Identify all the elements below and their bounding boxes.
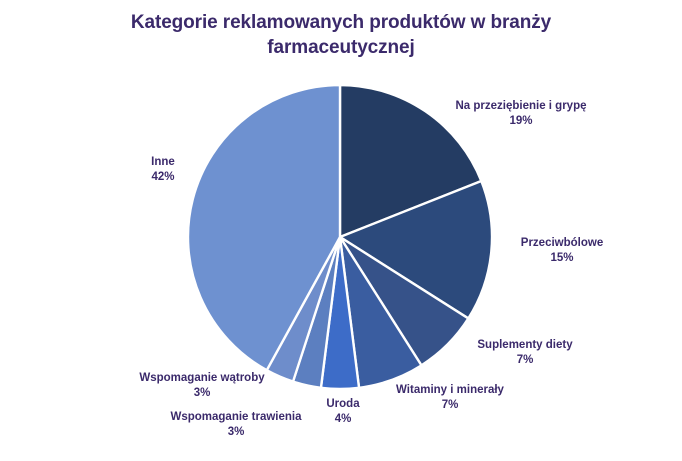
slice-label-beauty: Uroda4% xyxy=(318,397,368,427)
slice-label-name: Uroda xyxy=(318,397,368,412)
slice-label-name: Suplementy diety xyxy=(466,338,584,353)
slice-label-percent: 3% xyxy=(153,425,319,440)
slice-label-percent: 15% xyxy=(506,251,618,266)
slice-label-percent: 4% xyxy=(318,412,368,427)
slice-label-name: Witaminy i minerały xyxy=(384,383,516,398)
slice-label-painkiller: Przeciwbólowe15% xyxy=(506,236,618,266)
pie-slices-group xyxy=(188,85,492,389)
slice-label-percent: 19% xyxy=(440,114,602,129)
slice-label-supplements: Suplementy diety7% xyxy=(466,338,584,368)
slice-label-percent: 7% xyxy=(466,353,584,368)
slice-label-name: Przeciwbólowe xyxy=(506,236,618,251)
slice-label-name: Wspomaganie wątroby xyxy=(122,371,282,386)
slice-label-digestion: Wspomaganie trawienia3% xyxy=(153,410,319,440)
pie-chart-graphic xyxy=(0,0,682,461)
slice-label-name: Inne xyxy=(136,155,190,170)
pie-chart-figure: Kategorie reklamowanych produktów w bran… xyxy=(0,0,682,461)
slice-label-other: Inne42% xyxy=(136,155,190,185)
slice-label-percent: 7% xyxy=(384,398,516,413)
slice-label-name: Na przeziębienie i grypę xyxy=(440,99,602,114)
slice-label-cold-flu: Na przeziębienie i grypę19% xyxy=(440,99,602,129)
slice-label-percent: 3% xyxy=(122,386,282,401)
slice-label-name: Wspomaganie trawienia xyxy=(153,410,319,425)
slice-label-liver: Wspomaganie wątroby3% xyxy=(122,371,282,401)
slice-label-vitamins: Witaminy i minerały7% xyxy=(384,383,516,413)
slice-label-percent: 42% xyxy=(136,170,190,185)
